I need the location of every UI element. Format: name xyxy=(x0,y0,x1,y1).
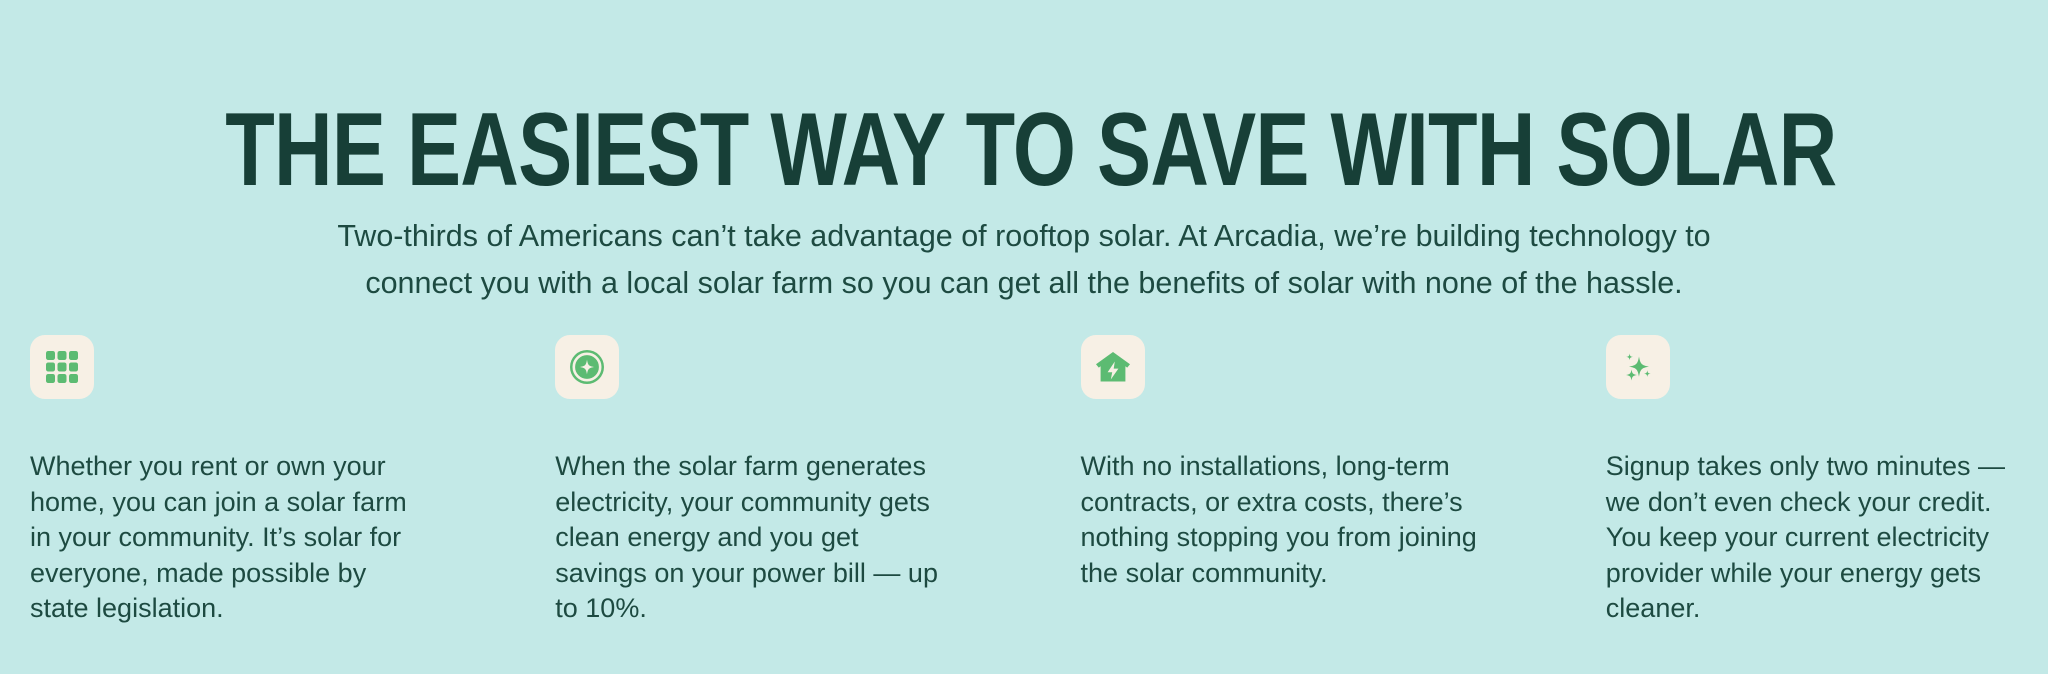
feature-column: Whether you rent or own your home, you c… xyxy=(30,335,429,627)
sparkle-circle-icon xyxy=(555,335,619,399)
sparkles-icon xyxy=(1606,335,1670,399)
solar-marketing-section: THE EASIEST WAY TO SAVE WITH SOLAR Two-t… xyxy=(0,0,2048,674)
house-bolt-icon xyxy=(1081,335,1145,399)
feature-description: When the solar farm generates electricit… xyxy=(555,449,954,627)
feature-description: Signup takes only two minutes — we don’t… xyxy=(1606,449,2025,627)
feature-column: With no installations, long-term contrac… xyxy=(1081,335,1480,591)
feature-description: With no installations, long-term contrac… xyxy=(1081,449,1480,591)
feature-description: Whether you rent or own your home, you c… xyxy=(30,449,429,627)
feature-column: Signup takes only two minutes — we don’t… xyxy=(1606,335,2025,627)
hero-subheading: Two-thirds of Americans can’t take advan… xyxy=(309,213,1739,307)
feature-columns: Whether you rent or own your home, you c… xyxy=(30,335,2025,627)
grid-icon xyxy=(30,335,94,399)
page-title: THE EASIEST WAY TO SAVE WITH SOLAR xyxy=(225,98,1822,202)
feature-column: When the solar farm generates electricit… xyxy=(555,335,954,627)
